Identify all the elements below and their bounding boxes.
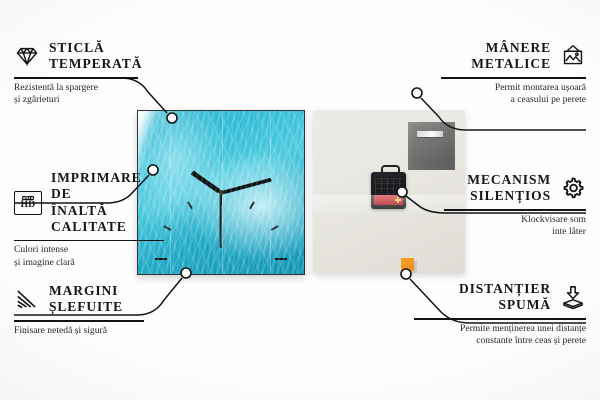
clock-back-panel [313, 110, 465, 273]
callout-desc: Permit montarea ușoară a ceasului pe per… [441, 82, 586, 108]
callout-title: STICLĂ TEMPERATĂ [49, 40, 142, 73]
callout-margini-slefuite: MARGINI ȘLEFUITE Finisare netedă și sigu… [14, 283, 144, 337]
movement-texture [375, 178, 402, 194]
callout-imprimare-inalta-calitate: ultraHD IMPRIMARE DE ÎNALTĂ CALITATE Cul… [14, 170, 164, 270]
infographic-stage: STICLĂ TEMPERATĂ Rezistentă la spargere … [0, 0, 600, 400]
clock-hour-hand [190, 170, 222, 195]
polished-edges-icon [14, 286, 40, 312]
callout-rule [441, 77, 586, 79]
callout-rule [14, 77, 138, 79]
callout-desc: Culori intense și imagine clară [14, 244, 164, 270]
callout-mecanism-silentios: MECANISM SILENȚIOS Klockvisare som inte … [444, 172, 586, 239]
callout-title: MECANISM SILENȚIOS [467, 172, 551, 205]
battery-plus-icon [395, 196, 401, 203]
callout-title: MÂNERE METALICE [471, 40, 551, 73]
foam-spacer-icon [560, 284, 586, 310]
callout-desc: Permite menținerea unei distanțe constan… [414, 323, 586, 349]
metal-hanger-plate [408, 122, 455, 170]
callout-title: IMPRIMARE DE ÎNALTĂ CALITATE [51, 170, 164, 236]
callout-desc: Klockvisare som inte låter [444, 214, 586, 240]
foam-spacer [401, 258, 414, 271]
picture-hanger-icon [560, 43, 586, 69]
gear-icon [560, 175, 586, 201]
callout-distantier-spuma: DISTANȚIER SPUMĂ Permite menținerea unei… [414, 281, 586, 348]
battery [374, 195, 403, 205]
callout-rule [14, 320, 144, 322]
diamond-icon [14, 43, 40, 69]
clock-tick [221, 258, 287, 260]
hanger-slot [417, 131, 443, 137]
clock-center-cap [219, 190, 224, 195]
callout-rule [414, 318, 586, 320]
callout-desc: Rezistentă la spargere și zgârieturi [14, 82, 138, 108]
callout-manere-metalice: MÂNERE METALICE Permit montarea ușoară a… [441, 40, 586, 107]
callout-rule [444, 209, 586, 211]
clock-second-hand [220, 193, 222, 248]
callout-sticla-temperata: STICLĂ TEMPERATĂ Rezistentă la spargere … [14, 40, 138, 107]
callout-rule [14, 240, 164, 242]
movement-hanging-loop [381, 165, 400, 176]
panel-seam [170, 111, 171, 274]
callout-desc: Finisare netedă și sigură [14, 325, 144, 338]
ultra-hd-icon: ultraHD [14, 191, 42, 215]
panel-seam [270, 111, 271, 274]
callout-title: DISTANȚIER SPUMĂ [459, 281, 551, 314]
clock-movement-box [371, 172, 406, 209]
clock-minute-hand [220, 177, 271, 194]
clock-tick [155, 258, 221, 260]
callout-title: MARGINI ȘLEFUITE [49, 283, 123, 316]
